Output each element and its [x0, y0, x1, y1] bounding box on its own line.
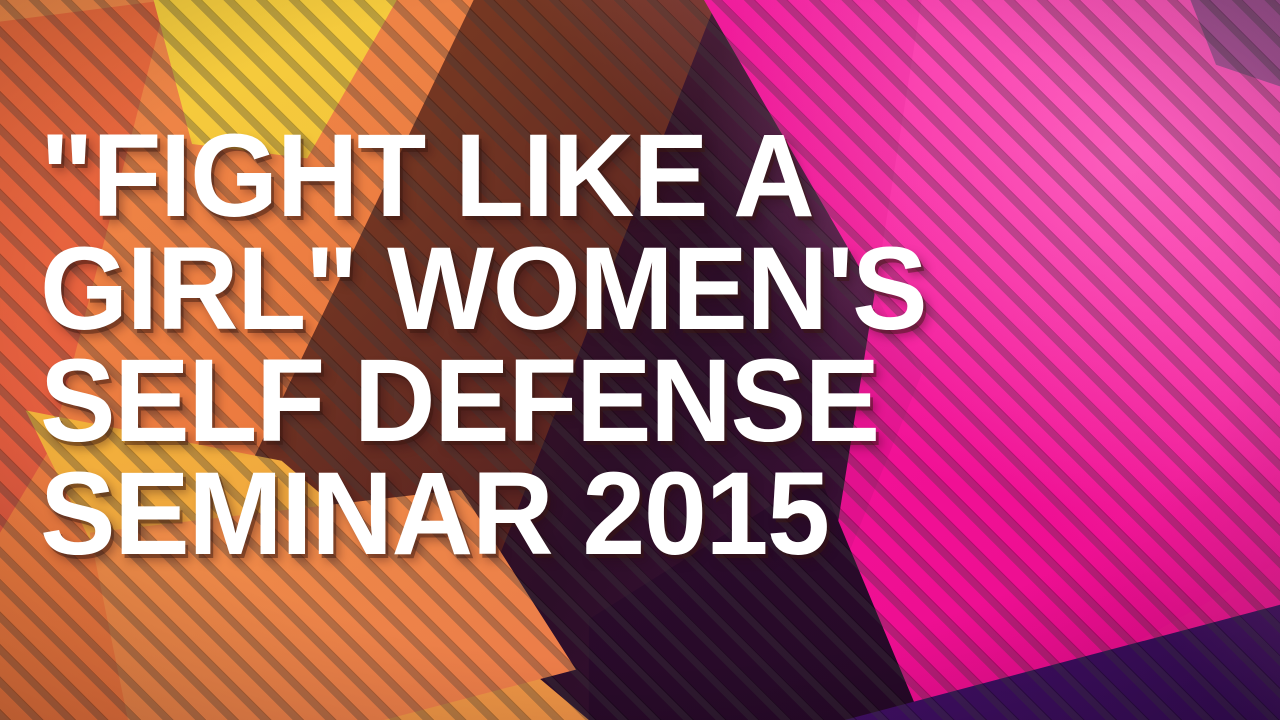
title-card: "FIGHT LIKE A GIRL" WOMEN'S SELF DEFENSE…: [0, 0, 1280, 720]
page-title: "FIGHT LIKE A GIRL" WOMEN'S SELF DEFENSE…: [40, 120, 1192, 571]
